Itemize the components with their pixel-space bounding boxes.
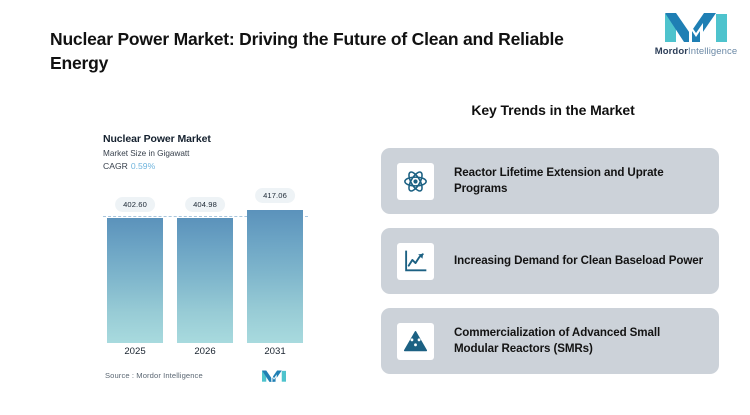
chart-panel: Nuclear Power Market Market Size in Giga… [103,133,308,383]
chart-cagr: CAGR0.59% [103,161,308,171]
brand-word-secondary: Intelligence [688,46,737,57]
bar-group-2031: 417.06 [247,210,303,343]
atom-icon-container [397,163,434,200]
x-axis-tick: 2026 [177,346,233,357]
chart-subtitle: Market Size in Gigawatt [103,149,308,158]
bar-2026 [177,218,233,343]
trends-card-list: Reactor Lifetime Extension and Uprate Pr… [381,148,719,388]
bar-2025 [107,218,163,343]
trend-card-label: Reactor Lifetime Extension and Uprate Pr… [454,165,719,198]
x-axis-tick: 2031 [247,346,303,357]
bar-group-2025: 402.60 [107,218,163,343]
trends-heading: Key Trends in the Market [388,102,718,118]
trend-card-reactor-lifetime[interactable]: Reactor Lifetime Extension and Uprate Pr… [381,148,719,214]
chart-x-axis: 2025 2026 2031 [103,346,308,362]
slide-canvas: Nuclear Power Market: Driving the Future… [0,0,750,415]
cagr-value: 0.59% [131,161,155,171]
bar-value-label: 417.06 [255,188,295,203]
brand-wordmark: MordorIntelligence [655,46,738,57]
brand-logo: MordorIntelligence [650,10,742,66]
radiation-triangle-icon-container [397,323,434,360]
bar-2031 [247,210,303,343]
page-title: Nuclear Power Market: Driving the Future… [50,28,620,76]
trend-card-label: Increasing Demand for Clean Baseload Pow… [454,253,717,269]
mordor-m-logo-icon [665,10,727,42]
chart-source-label: Source : Mordor Intelligence [105,371,203,380]
trend-card-clean-baseload[interactable]: Increasing Demand for Clean Baseload Pow… [381,228,719,294]
bar-chart-plot: 402.60 404.98 417.06 [103,193,308,343]
mordor-m-logo-icon [262,369,286,382]
atom-icon [403,169,428,194]
bar-group-2026: 404.98 [177,218,233,343]
trend-card-label: Commercialization of Advanced Small Modu… [454,325,719,358]
radiation-triangle-icon [403,329,428,354]
brand-word-primary: Mordor [655,46,688,57]
x-axis-tick: 2025 [107,346,163,357]
line-chart-up-icon-container [397,243,434,280]
chart-title: Nuclear Power Market [103,133,308,145]
cagr-label: CAGR [103,161,128,171]
line-chart-up-icon [403,249,428,274]
bar-value-label: 404.98 [185,197,225,212]
trend-card-smr[interactable]: Commercialization of Advanced Small Modu… [381,308,719,374]
chart-source-row: Source : Mordor Intelligence [105,369,310,382]
bar-value-label: 402.60 [115,197,155,212]
